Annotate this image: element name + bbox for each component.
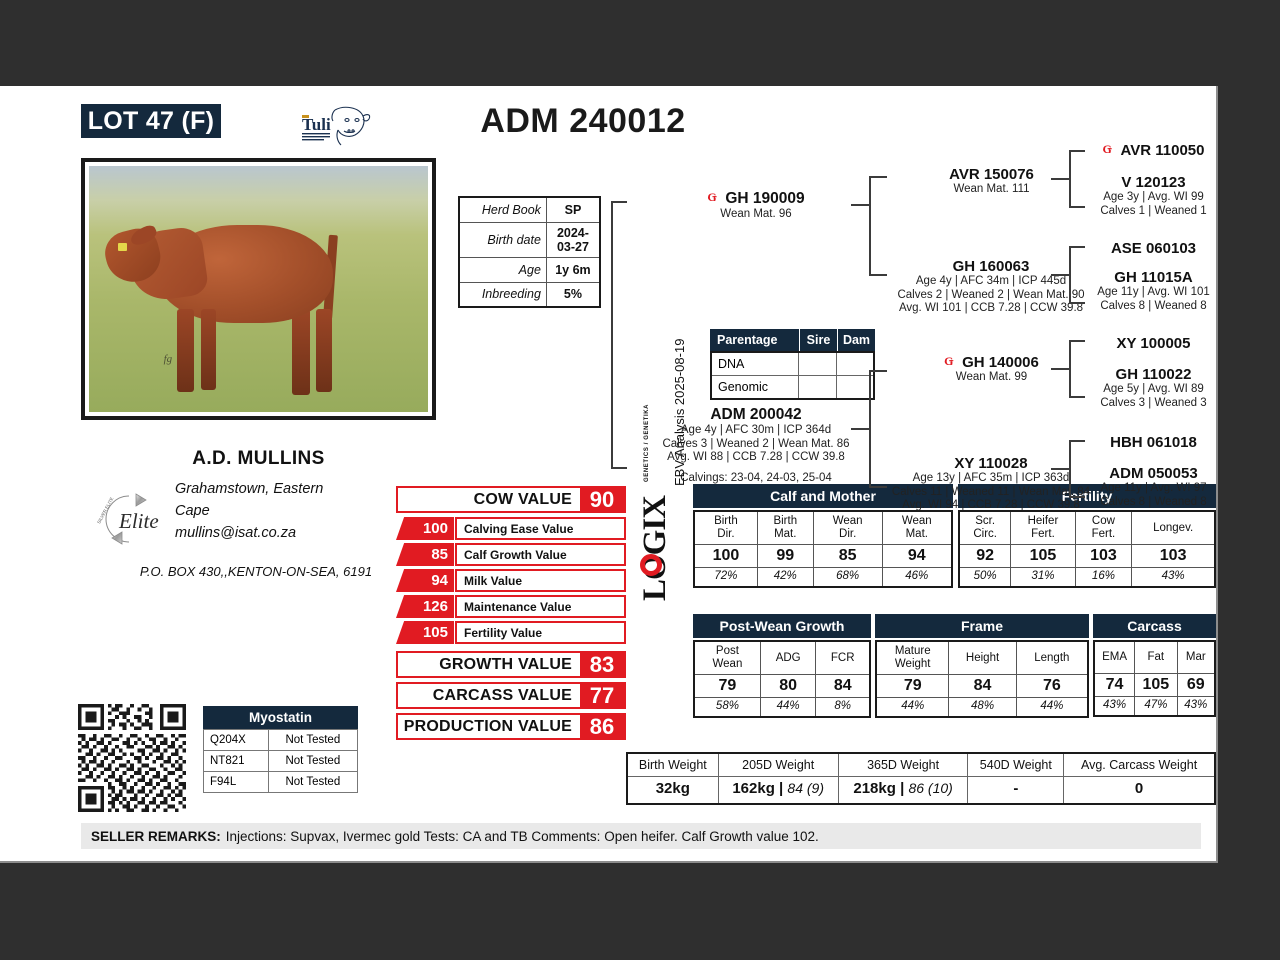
carcass-value-number: 77 (580, 684, 624, 707)
pedigree-ds-dam: GH 110022 Age 5y | Avg. WI 89 Calves 3 |… (1091, 366, 1216, 410)
animal-id-title: ADM 240012 (418, 102, 748, 141)
ebv-value: 92 (959, 545, 1011, 568)
ebv-accuracy: 8% (816, 698, 870, 718)
table-row: PostWean ADG FCR (694, 641, 870, 675)
ebv-col-header: BirthDir. (694, 511, 757, 545)
genomic-marker-icon: GT (944, 355, 959, 368)
ebv-col-header: WeanMat. (882, 511, 952, 545)
pedigree-node-detail: Calves 8 | Weaned 8 (1091, 300, 1216, 314)
ebv-col-header: MatureWeight (876, 641, 949, 675)
sub-value-label: Calving Ease Value (455, 517, 626, 540)
ear-tag (118, 243, 127, 251)
photo-detail (177, 309, 194, 393)
svg-text:SILVER ELITE: SILVER ELITE (96, 496, 114, 524)
pedigree-dam-detail: Avg. WI 88 | CCB 7.28 | CCW 39.8 (621, 451, 891, 465)
ebv-accuracy: 48% (949, 698, 1016, 718)
pedigree-dam-name: ADM 200042 (621, 406, 891, 424)
myostatin-title: Myostatin (203, 706, 358, 729)
weight-header: 540D Weight (968, 753, 1064, 777)
ebv-col-header: Height (949, 641, 1016, 675)
pedigree-bracket (1069, 340, 1085, 398)
ebv-col-header: HeiferFert. (1011, 511, 1075, 545)
pedigree-node-name: GTAVR 110050 (1091, 142, 1216, 159)
myostatin-gene: Q204X (204, 730, 269, 751)
pedigree-bracket (1069, 246, 1085, 304)
pedigree-sire-name: GTGH 190009 (651, 190, 861, 208)
ebv-accuracy: 42% (757, 568, 813, 588)
lot-badge: LOT 47 (F) (81, 104, 221, 138)
pedigree-node-name: GH 110022 (1091, 366, 1216, 383)
breeder-city-line1: Grahamstown, Eastern (175, 478, 405, 500)
production-value-label: PRODUCTION VALUE (398, 715, 580, 738)
pedigree-dam: ADM 200042 Age 4y | AFC 30m | ICP 364d C… (621, 406, 891, 485)
production-value-bar: PRODUCTION VALUE 86 (396, 713, 626, 740)
ebv-accuracy: 43% (1132, 568, 1215, 588)
ebv-value: 76 (1016, 675, 1088, 698)
ebv-value: 103 (1075, 545, 1132, 568)
sub-value-label: Calf Growth Value (455, 543, 626, 566)
ebv-value: 84 (949, 675, 1016, 698)
ebv-value: 99 (757, 545, 813, 568)
ebv-value: 103 (1132, 545, 1215, 568)
pedigree-node-detail: Wean Mat. 111 (889, 183, 1094, 197)
pedigree-node-detail: Avg. WI 94 | CCB 7.28 | CCW 39.8 (871, 499, 1111, 513)
table-row: Q204X Not Tested (204, 730, 358, 751)
pedigree-node-detail: Avg. WI 101 | CCB 7.28 | CCW 39.8 (871, 302, 1111, 316)
ebv-table: PostWean ADG FCR 79 80 84 58% 44% 8% (693, 640, 871, 718)
table-row: Age 1y 6m (459, 257, 600, 282)
pedigree-connector (1051, 178, 1071, 180)
ebv-accuracy: 46% (882, 568, 952, 588)
ebv-col-header: ADG (760, 641, 816, 675)
pedigree-connector (1051, 368, 1071, 370)
table-row: 100 99 85 94 (694, 545, 952, 568)
pedigree-connector (1051, 274, 1071, 276)
ebv-accuracy: 44% (1016, 698, 1088, 718)
table-row: NT821 Not Tested (204, 751, 358, 772)
pedigree-node-detail: Calves 1 | Weaned 1 (1091, 205, 1216, 219)
ebv-group-header: Post-Wean Growth (693, 614, 871, 638)
pedigree-connector (1051, 468, 1071, 470)
table-row: BirthDir. BirthMat. WeanDir. WeanMat. (694, 511, 952, 545)
elite-breeder-logo: Elite SILVER ELITE (89, 488, 167, 552)
weight-value: 32kg (627, 777, 718, 805)
pedigree-node-name: ASE 060103 (1091, 240, 1216, 257)
ebv-table: MatureWeight Height Length 79 84 76 44% … (875, 640, 1089, 718)
pedigree-dam-spacer (621, 465, 891, 472)
myostatin-gene: NT821 (204, 751, 269, 772)
pedigree-node-name: HBH 061018 (1091, 434, 1216, 451)
animal-photo: fg (89, 166, 428, 412)
ebv-col-header: EMA (1094, 641, 1135, 673)
breeder-address: Grahamstown, Eastern Cape mullins@isat.c… (175, 478, 405, 544)
table-row: Birth Weight 205D Weight 365D Weight 540… (627, 753, 1215, 777)
table-row: 32kg 162kg | 84 (9) 218kg | 86 (10) - 0 (627, 777, 1215, 805)
cow-value-bar: COW VALUE 90 (396, 486, 626, 513)
ebv-value: 105 (1011, 545, 1075, 568)
photo-detail (316, 309, 332, 393)
pedigree-node-detail: Age 5y | Avg. WI 89 (1091, 383, 1216, 397)
production-value-number: 86 (580, 715, 624, 738)
pedigree-dam-detail: Age 4y | AFC 30m | ICP 364d (621, 424, 891, 438)
sub-value-number: 100 (396, 517, 454, 540)
myostatin-status: Not Tested (268, 772, 357, 793)
table-row: Scr.Circ. HeiferFert. CowFert. Longev. (959, 511, 1215, 545)
pedigree-sire: GTGH 190009 Wean Mat. 96 (651, 190, 861, 222)
pedigree-node-name: GH 11015A (1091, 269, 1216, 286)
ebv-value: 79 (694, 675, 760, 698)
ebv-accuracy: 58% (694, 698, 760, 718)
herdbook-value: 5% (546, 282, 600, 307)
sub-value-number: 105 (396, 621, 454, 644)
table-row: 50% 31% 16% 43% (959, 568, 1215, 588)
weight-value: 0 (1064, 777, 1215, 805)
growth-value-number: 83 (580, 653, 624, 676)
ebv-col-header: FCR (816, 641, 870, 675)
breeder-email[interactable]: mullins@isat.co.za (175, 522, 405, 544)
ebv-col-header: Longev. (1132, 511, 1215, 545)
ebv-group-carcass: Carcass EMA Fat Mar 74 105 69 43% 47% 43… (1093, 614, 1216, 717)
breeder-city-line2: Cape (175, 500, 405, 522)
ebv-col-header: PostWean (694, 641, 760, 675)
pedigree-node-name: XY 100005 (1091, 335, 1216, 352)
ebv-value: 69 (1177, 673, 1215, 696)
pedigree-connector (851, 428, 871, 430)
weight-value: - (968, 777, 1064, 805)
ebv-accuracy: 43% (1094, 696, 1135, 716)
herdbook-key: Herd Book (459, 197, 546, 222)
pedigree-bracket (1069, 150, 1085, 208)
pedigree-node-name: AVR 150076 (889, 166, 1094, 183)
pedigree-node-detail: Calves 3 | Weaned 3 (1091, 397, 1216, 411)
table-row: EMA Fat Mar (1094, 641, 1215, 673)
animal-photo-frame: fg (81, 158, 436, 420)
logix-branding: LOGIX GENETICS / GENETIKA EBV Analysis 2… (636, 484, 686, 608)
table-row: 43% 47% 43% (1094, 696, 1215, 716)
pedigree-tree: GTGH 190009 Wean Mat. 96 ADM 200042 Age … (611, 148, 1216, 493)
qr-code[interactable] (78, 704, 186, 812)
ebv-accuracy: 47% (1135, 696, 1177, 716)
pedigree-node-detail: Age 3y | Avg. WI 99 (1091, 191, 1216, 205)
myostatin-status: Not Tested (268, 730, 357, 751)
ebv-col-header: Mar (1177, 641, 1215, 673)
pedigree-node-detail: Calves 8 | Weaned 8 (1091, 496, 1216, 510)
pedigree-node-detail: Age 11y | Avg. WI 101 (1091, 286, 1216, 300)
seller-remarks-text: Injections: Supvax, Ivermec gold Tests: … (226, 829, 819, 844)
table-row: 72% 42% 68% 46% (694, 568, 952, 588)
carcass-value-bar: CARCASS VALUE 77 (396, 682, 626, 709)
myostatin-status: Not Tested (268, 751, 357, 772)
ebv-accuracy: 31% (1011, 568, 1075, 588)
sub-value-row: 100 Calving Ease Value (396, 517, 626, 540)
ebv-col-header: BirthMat. (757, 511, 813, 545)
ebv-value: 79 (876, 675, 949, 698)
pedigree-ss-sire: GTAVR 110050 (1091, 142, 1216, 159)
pedigree-dd-sire: HBH 061018 (1091, 434, 1216, 451)
herdbook-key: Birth date (459, 222, 546, 257)
pedigree-bracket (1069, 440, 1085, 498)
growth-value-bar: GROWTH VALUE 83 (396, 651, 626, 678)
weight-value: 218kg | 86 (10) (838, 777, 968, 805)
pedigree-node-detail: Age 11y | Avg. WI 97 (1091, 482, 1216, 496)
weight-header: 205D Weight (718, 753, 838, 777)
herdbook-value: 1y 6m (546, 257, 600, 282)
myostatin-table: Q204X Not Tested NT821 Not Tested F94L N… (203, 729, 358, 793)
sub-value-row: 105 Fertility Value (396, 621, 626, 644)
genomic-marker-icon: GT (1103, 143, 1118, 156)
ebv-col-header: Scr.Circ. (959, 511, 1011, 545)
table-row: Inbreeding 5% (459, 282, 600, 307)
weight-header: 365D Weight (838, 753, 968, 777)
weight-header: Avg. Carcass Weight (1064, 753, 1215, 777)
logix-wordmark: LOGIX (637, 496, 674, 601)
ebv-group-header: Carcass (1093, 614, 1216, 638)
sub-value-row: 126 Maintenance Value (396, 595, 626, 618)
ebv-group-header: Frame (875, 614, 1089, 638)
seller-remarks: SELLER REMARKS: Injections: Supvax, Iver… (81, 823, 1201, 849)
table-row: 79 80 84 (694, 675, 870, 698)
pedigree-node-name: ADM 050053 (1091, 465, 1216, 482)
sub-value-label: Milk Value (455, 569, 626, 592)
myostatin-panel: Myostatin Q204X Not Tested NT821 Not Tes… (203, 706, 358, 793)
logix-o-icon (640, 554, 662, 576)
herdbook-key: Age (459, 257, 546, 282)
ebv-table: EMA Fat Mar 74 105 69 43% 47% 43% (1093, 640, 1216, 717)
table-row: 58% 44% 8% (694, 698, 870, 718)
ebv-value: 100 (694, 545, 757, 568)
pedigree-dam-calvings: Calvings: 23-04, 24-03, 25-04 (621, 472, 891, 486)
weight-header: Birth Weight (627, 753, 718, 777)
ebv-accuracy: 44% (760, 698, 816, 718)
herdbook-value: 2024-03-27 (546, 222, 600, 257)
table-row: MatureWeight Height Length (876, 641, 1088, 675)
seller-remarks-label: SELLER REMARKS: (91, 829, 221, 844)
table-row: F94L Not Tested (204, 772, 358, 793)
pedigree-node-detail: Wean Mat. 99 (889, 371, 1094, 385)
ebv-value: 94 (882, 545, 952, 568)
tuli-breed-logo: Tuli (289, 100, 375, 148)
breeder-name: A.D. MULLINS (81, 448, 436, 470)
pedigree-sire-detail: Wean Mat. 96 (651, 208, 861, 222)
weight-value: 162kg | 84 (9) (718, 777, 838, 805)
table-row: 79 84 76 (876, 675, 1088, 698)
pedigree-ds-sire: XY 100005 (1091, 335, 1216, 352)
ebv-col-header: WeanDir. (813, 511, 882, 545)
ebv-value: 84 (816, 675, 870, 698)
ebv-value: 80 (760, 675, 816, 698)
herdbook-key: Inbreeding (459, 282, 546, 307)
weights-table-panel: Birth Weight 205D Weight 365D Weight 540… (626, 752, 1216, 805)
sub-value-label: Maintenance Value (455, 595, 626, 618)
genomic-marker-icon: GT (707, 191, 722, 204)
ebv-col-header: Length (1016, 641, 1088, 675)
ebv-col-header: Fat (1135, 641, 1177, 673)
svg-text:Elite: Elite (118, 509, 159, 533)
photographer-signature: fg (164, 353, 173, 365)
cow-value-label: COW VALUE (398, 488, 580, 511)
pedigree-node-name: V 120123 (1091, 174, 1216, 191)
photo-detail (292, 309, 310, 395)
ebv-accuracy: 44% (876, 698, 949, 718)
table-row: 74 105 69 (1094, 673, 1215, 696)
ebv-table: BirthDir. BirthMat. WeanDir. WeanMat. 10… (693, 510, 953, 588)
growth-value-label: GROWTH VALUE (398, 653, 580, 676)
sub-value-number: 85 (396, 543, 454, 566)
herdbook-value: SP (546, 197, 600, 222)
sub-value-number: 94 (396, 569, 454, 592)
pedigree-sire-sire: AVR 150076 Wean Mat. 111 (889, 166, 1094, 197)
ebv-accuracy: 72% (694, 568, 757, 588)
breeder-postal-address: P.O. BOX 430,,KENTON-ON-SEA, 6191 (81, 564, 431, 579)
herd-book-table: Herd Book SP Birth date 2024-03-27 Age 1… (458, 196, 601, 308)
pedigree-dam-detail: Calves 3 | Weaned 2 | Wean Mat. 86 (621, 438, 891, 452)
ebv-accuracy: 68% (813, 568, 882, 588)
ebv-accuracy: 50% (959, 568, 1011, 588)
sub-value-row: 85 Calf Growth Value (396, 543, 626, 566)
table-row: 92 105 103 103 (959, 545, 1215, 568)
sub-value-number: 126 (396, 595, 454, 618)
pedigree-dd-dam: ADM 050053 Age 11y | Avg. WI 97 Calves 8… (1091, 465, 1216, 509)
myostatin-gene: F94L (204, 772, 269, 793)
ebv-group-post-wean-growth: Post-Wean Growth PostWean ADG FCR 79 80 … (693, 614, 871, 718)
ebv-group-frame: Frame MatureWeight Height Length 79 84 7… (875, 614, 1089, 718)
catalogue-page: LOT 47 (F) Tuli ADM 240012 (0, 86, 1218, 863)
carcass-value-label: CARCASS VALUE (398, 684, 580, 707)
ebv-accuracy: 43% (1177, 696, 1215, 716)
ebv-accuracy: 16% (1075, 568, 1132, 588)
table-row: Herd Book SP (459, 197, 600, 222)
ebv-value: 85 (813, 545, 882, 568)
ebv-value: 74 (1094, 673, 1135, 696)
page-sheet: LOT 47 (F) Tuli ADM 240012 (63, 86, 1216, 861)
index-values-panel: COW VALUE 90 100 Calving Ease Value 85 C… (396, 486, 626, 744)
sub-value-label: Fertility Value (455, 621, 626, 644)
pedigree-sd-sire: ASE 060103 (1091, 240, 1216, 257)
pedigree-ss-dam: V 120123 Age 3y | Avg. WI 99 Calves 1 | … (1091, 174, 1216, 218)
table-row: Birth date 2024-03-27 (459, 222, 600, 257)
pedigree-connector (851, 204, 871, 206)
ebv-value: 105 (1135, 673, 1177, 696)
ebv-table: Scr.Circ. HeiferFert. CowFert. Longev. 9… (958, 510, 1216, 588)
sub-value-row: 94 Milk Value (396, 569, 626, 592)
pedigree-sd-dam: GH 11015A Age 11y | Avg. WI 101 Calves 8… (1091, 269, 1216, 313)
weights-table: Birth Weight 205D Weight 365D Weight 540… (626, 752, 1216, 805)
table-row: 44% 48% 44% (876, 698, 1088, 718)
photo-detail (201, 309, 216, 390)
ebv-col-header: CowFert. (1075, 511, 1132, 545)
